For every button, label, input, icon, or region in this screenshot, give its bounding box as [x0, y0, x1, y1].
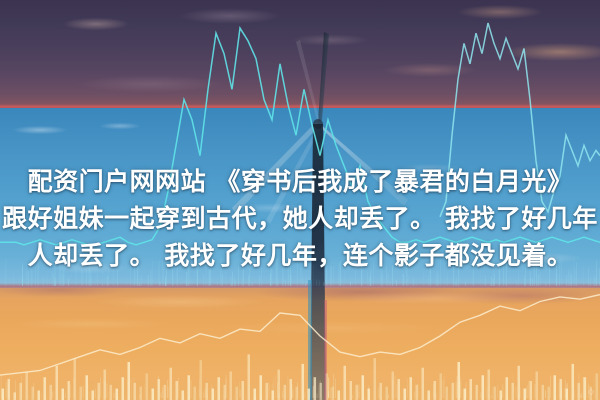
caption-line-3: 人却丢了。 我找了好几年，连个影子都没见着。 — [0, 237, 600, 274]
caption-block: 配资门户网网站 《穿书后我成了暴君的白月光》 跟好姐妹一起穿到古代，她人却丢了。… — [0, 163, 600, 274]
dusk-clouds-layer — [0, 0, 600, 110]
orange-haze-layer — [0, 288, 600, 400]
caption-line-1: 配资门户网网站 《穿书后我成了暴君的白月光》 — [0, 163, 600, 200]
corner-watermark: ◇ — [588, 387, 594, 396]
caption-line-2: 跟好姐妹一起穿到古代，她人却丢了。 我找了好几年 — [0, 200, 600, 237]
banner-image: 配资门户网网站 《穿书后我成了暴君的白月光》 跟好姐妹一起穿到古代，她人却丢了。… — [0, 0, 600, 400]
